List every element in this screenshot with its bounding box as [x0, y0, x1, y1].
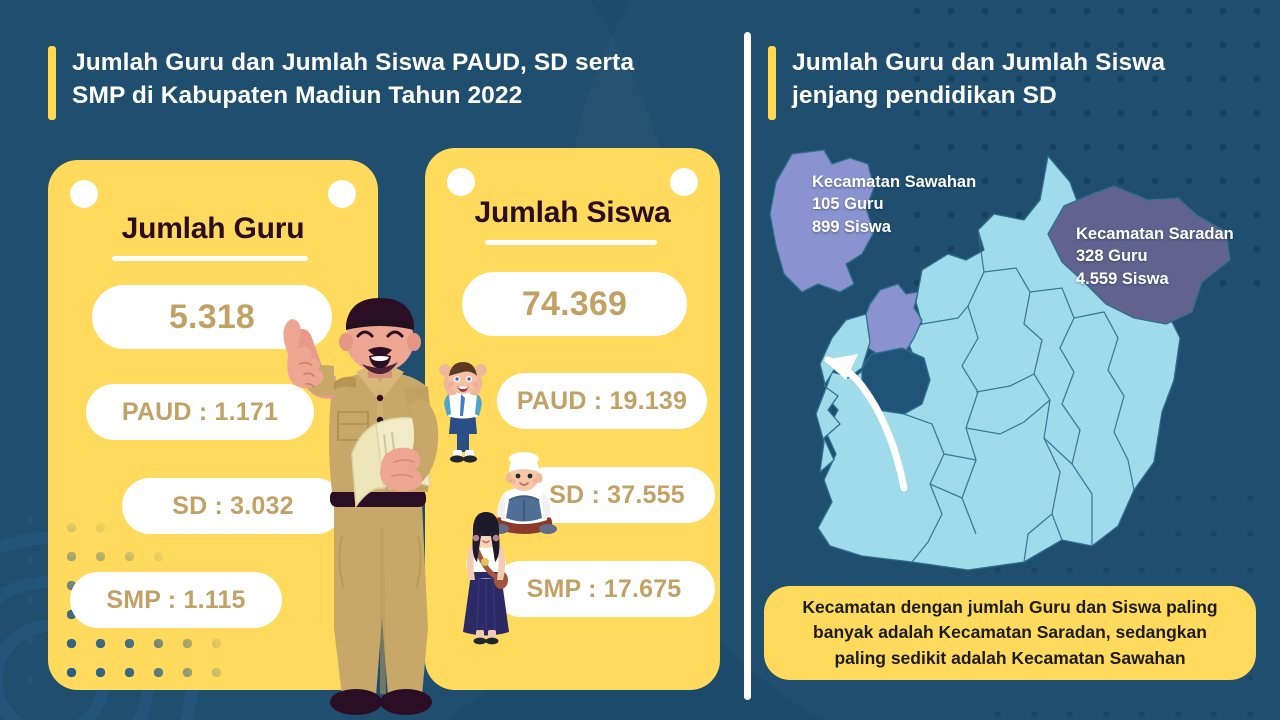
sawahan-guru: 105 Guru [812, 193, 976, 215]
siswa-paud-value: PAUD : 19.139 [497, 373, 707, 429]
heading-accent-bar [768, 46, 776, 120]
card-punch-hole-right [328, 180, 356, 208]
left-panel-heading: Jumlah Guru dan Jumlah Siswa PAUD, SD se… [48, 46, 634, 120]
stat-card-jumlah-guru: Jumlah Guru 5.318 PAUD : 1.171 SD : 3.03… [48, 160, 378, 690]
card-title-underline [112, 256, 308, 261]
footnote-callout: Kecamatan dengan jumlah Guru dan Siswa p… [764, 586, 1256, 680]
stat-card-jumlah-siswa: Jumlah Siswa 74.369 PAUD : 19.139 SD : 3… [425, 148, 720, 690]
guru-total-value: 5.318 [92, 285, 332, 349]
card-title-underline [485, 240, 657, 245]
card-title-siswa: Jumlah Siswa [425, 196, 720, 230]
guru-smp-value: SMP : 1.115 [70, 572, 282, 628]
vertical-divider [744, 32, 751, 700]
siswa-total-value: 74.369 [462, 272, 687, 336]
saradan-guru: 328 Guru [1076, 245, 1234, 267]
right-panel-heading: Jumlah Guru dan Jumlah Siswa jenjang pen… [768, 46, 1165, 120]
card-punch-hole-right [670, 168, 698, 196]
guru-sd-value: SD : 3.032 [122, 478, 344, 534]
saradan-siswa: 4.559 Siswa [1076, 268, 1234, 290]
saradan-name: Kecamatan Saradan [1076, 224, 1234, 245]
heading-accent-bar [48, 46, 56, 120]
footnote-text: Kecamatan dengan jumlah Guru dan Siswa p… [802, 595, 1217, 671]
left-heading-text: Jumlah Guru dan Jumlah Siswa PAUD, SD se… [72, 46, 634, 113]
map-label-saradan: Kecamatan Saradan 328 Guru 4.559 Siswa [1076, 224, 1234, 290]
card-title-guru: Jumlah Guru [48, 212, 378, 246]
card-punch-hole-left [70, 180, 98, 208]
sawahan-siswa: 899 Siswa [812, 216, 976, 238]
sawahan-name: Kecamatan Sawahan [812, 172, 976, 193]
siswa-smp-value: SMP : 17.675 [493, 561, 715, 617]
guru-paud-value: PAUD : 1.171 [86, 384, 314, 440]
map-label-sawahan: Kecamatan Sawahan 105 Guru 899 Siswa [812, 172, 976, 238]
right-heading-text: Jumlah Guru dan Jumlah Siswa jenjang pen… [792, 46, 1165, 113]
card-punch-hole-left [447, 168, 475, 196]
siswa-sd-value: SD : 37.555 [519, 467, 715, 523]
